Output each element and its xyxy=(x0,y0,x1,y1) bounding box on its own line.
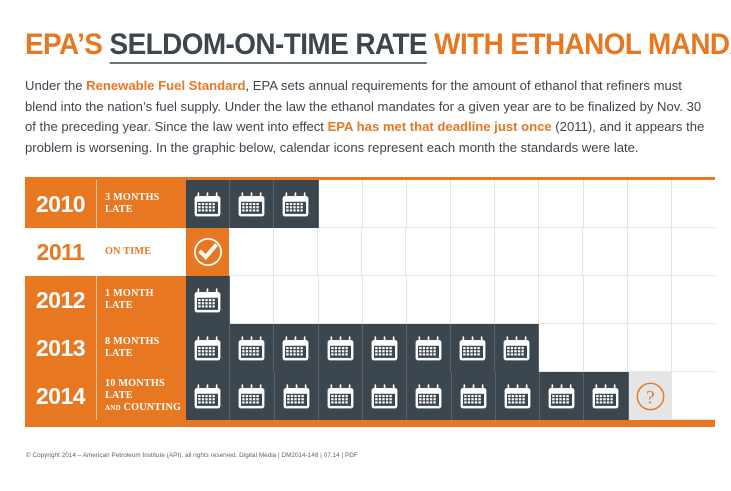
month-cell-late xyxy=(584,372,628,420)
month-cell-late xyxy=(230,180,274,228)
calendar-icon xyxy=(371,383,398,409)
title-part-epas: EPA’S xyxy=(25,28,110,61)
month-cell-empty xyxy=(583,228,627,276)
calendar-icon xyxy=(194,383,221,409)
month-cell-empty xyxy=(672,180,715,228)
month-cell-empty xyxy=(584,180,628,228)
month-cell-empty xyxy=(319,180,363,228)
month-cell-empty xyxy=(628,180,672,228)
month-cell-empty xyxy=(495,228,539,276)
month-cells xyxy=(186,228,715,276)
calendar-icon xyxy=(327,335,354,361)
month-cell-late xyxy=(230,324,274,372)
row-label-block: 20103 MONTHS LATE xyxy=(25,180,186,228)
month-cell-empty xyxy=(584,276,628,324)
row-status-label: 10 MONTHS LATEand COUNTING xyxy=(97,378,186,414)
month-cell-empty xyxy=(229,228,273,276)
check-circle-icon xyxy=(193,237,223,267)
calendar-icon xyxy=(548,383,575,409)
intro-text-1: Under the xyxy=(25,78,86,93)
month-cell-empty xyxy=(672,324,715,372)
chart-row: 20121 MONTH LATE xyxy=(25,276,715,324)
month-cell-late xyxy=(186,372,230,420)
calendar-icon xyxy=(503,335,530,361)
month-cell-empty xyxy=(672,228,715,276)
month-cell-pending: ? xyxy=(629,372,672,420)
month-cell-empty xyxy=(451,276,495,324)
chart-row: 20138 MONTHS LATE xyxy=(25,324,715,372)
calendar-icon xyxy=(592,383,619,409)
highlight-deadline-met-once: EPA has met that deadline just once xyxy=(328,119,552,134)
row-label-block: 20138 MONTHS LATE xyxy=(25,324,186,372)
row-status-line-2: and COUNTING xyxy=(105,402,182,414)
chart-bottom-rule xyxy=(25,420,715,427)
calendar-icon xyxy=(459,335,486,361)
month-cell-empty xyxy=(672,276,715,324)
month-cell-empty xyxy=(628,276,672,324)
row-label-block: 2011ON TIME xyxy=(25,228,186,276)
month-cell-late xyxy=(452,372,496,420)
row-year: 2012 xyxy=(25,287,96,314)
svg-text:?: ? xyxy=(646,387,654,408)
calendar-icon xyxy=(194,335,221,361)
month-cell-late xyxy=(230,372,274,420)
row-year: 2014 xyxy=(25,383,96,410)
calendar-icon xyxy=(238,191,265,217)
month-cell-empty xyxy=(539,276,583,324)
month-cell-late xyxy=(407,324,451,372)
calendar-icon xyxy=(194,287,221,313)
chart-rows: 20103 MONTHS LATE2011ON TIME20121 MONTH … xyxy=(25,180,715,420)
calendar-icon xyxy=(415,335,442,361)
month-cell-empty xyxy=(495,276,539,324)
chart-row: 201410 MONTHS LATEand COUNTING? xyxy=(25,372,715,420)
calendar-icon xyxy=(283,383,310,409)
month-cell-empty xyxy=(539,180,583,228)
row-year: 2011 xyxy=(25,239,96,266)
title-part-with-ethanol-mandates: WITH ETHANOL MANDATES xyxy=(427,28,731,61)
month-cell-empty xyxy=(318,228,362,276)
copyright-footer: © Copyright 2014 – American Petroleum In… xyxy=(26,452,358,459)
month-cell-empty xyxy=(451,180,495,228)
calendar-icon xyxy=(504,383,531,409)
month-cell-empty xyxy=(451,228,495,276)
row-status-label: 3 MONTHS LATE xyxy=(97,192,186,216)
row-status-line-1: 10 MONTHS LATE xyxy=(105,378,182,402)
month-cell-late xyxy=(496,372,540,420)
month-cell-empty xyxy=(363,180,407,228)
month-cell-late xyxy=(540,372,584,420)
month-cell-late xyxy=(274,324,318,372)
calendar-icon xyxy=(327,383,354,409)
timeline-chart: 20103 MONTHS LATE2011ON TIME20121 MONTH … xyxy=(25,177,715,427)
month-cell-empty xyxy=(628,228,672,276)
month-cell-late xyxy=(186,324,230,372)
month-cell-on-time xyxy=(186,228,229,276)
highlight-renewable-fuel-standard: Renewable Fuel Standard xyxy=(86,78,245,93)
month-cell-empty xyxy=(672,372,715,420)
month-cell-empty xyxy=(406,228,450,276)
month-cell-empty xyxy=(362,228,406,276)
calendar-icon xyxy=(460,383,487,409)
calendar-icon xyxy=(194,191,221,217)
calendar-icon xyxy=(282,335,309,361)
page-title: EPA’S SELDOM-ON-TIME RATE WITH ETHANOL M… xyxy=(25,28,667,62)
row-label-block: 201410 MONTHS LATEand COUNTING xyxy=(25,372,186,420)
calendar-icon xyxy=(282,191,309,217)
calendar-icon xyxy=(415,383,442,409)
month-cells: ? xyxy=(186,372,715,420)
month-cell-empty xyxy=(495,180,539,228)
month-cell-late xyxy=(407,372,451,420)
calendar-icon xyxy=(238,335,265,361)
month-cell-late xyxy=(319,324,363,372)
infographic-page: EPA’S SELDOM-ON-TIME RATE WITH ETHANOL M… xyxy=(0,0,731,491)
month-cell-empty xyxy=(628,324,672,372)
month-cell-empty xyxy=(539,324,583,372)
calendar-icon xyxy=(238,383,265,409)
row-year: 2010 xyxy=(25,191,96,218)
calendar-icon xyxy=(371,335,398,361)
month-cell-empty xyxy=(319,276,363,324)
month-cell-late xyxy=(363,324,407,372)
month-cell-late xyxy=(274,180,318,228)
month-cell-late xyxy=(451,324,495,372)
month-cell-empty xyxy=(274,276,318,324)
row-label-block: 20121 MONTH LATE xyxy=(25,276,186,324)
row-status-label: ON TIME xyxy=(97,246,186,258)
chart-row: 2011ON TIME xyxy=(25,228,715,276)
month-cells xyxy=(186,276,715,324)
month-cell-empty xyxy=(407,276,451,324)
month-cell-empty xyxy=(230,276,274,324)
row-year: 2013 xyxy=(25,335,96,362)
row-status-label: 8 MONTHS LATE xyxy=(97,336,186,360)
month-cell-late xyxy=(319,372,363,420)
month-cell-late xyxy=(495,324,539,372)
month-cell-late xyxy=(275,372,319,420)
month-cells xyxy=(186,180,715,228)
month-cell-empty xyxy=(363,276,407,324)
month-cell-late xyxy=(186,276,230,324)
chart-row: 20103 MONTHS LATE xyxy=(25,180,715,228)
month-cell-empty xyxy=(584,324,628,372)
month-cell-empty xyxy=(539,228,583,276)
month-cells xyxy=(186,324,715,372)
title-part-seldom-on-time-rate: SELDOM-ON-TIME RATE xyxy=(110,28,427,64)
month-cell-late xyxy=(363,372,407,420)
row-status-label: 1 MONTH LATE xyxy=(97,288,186,312)
month-cell-late xyxy=(186,180,230,228)
intro-paragraph: Under the Renewable Fuel Standard, EPA s… xyxy=(25,76,715,158)
month-cell-empty xyxy=(407,180,451,228)
question-circle-icon: ? xyxy=(635,381,666,412)
month-cell-empty xyxy=(274,228,318,276)
